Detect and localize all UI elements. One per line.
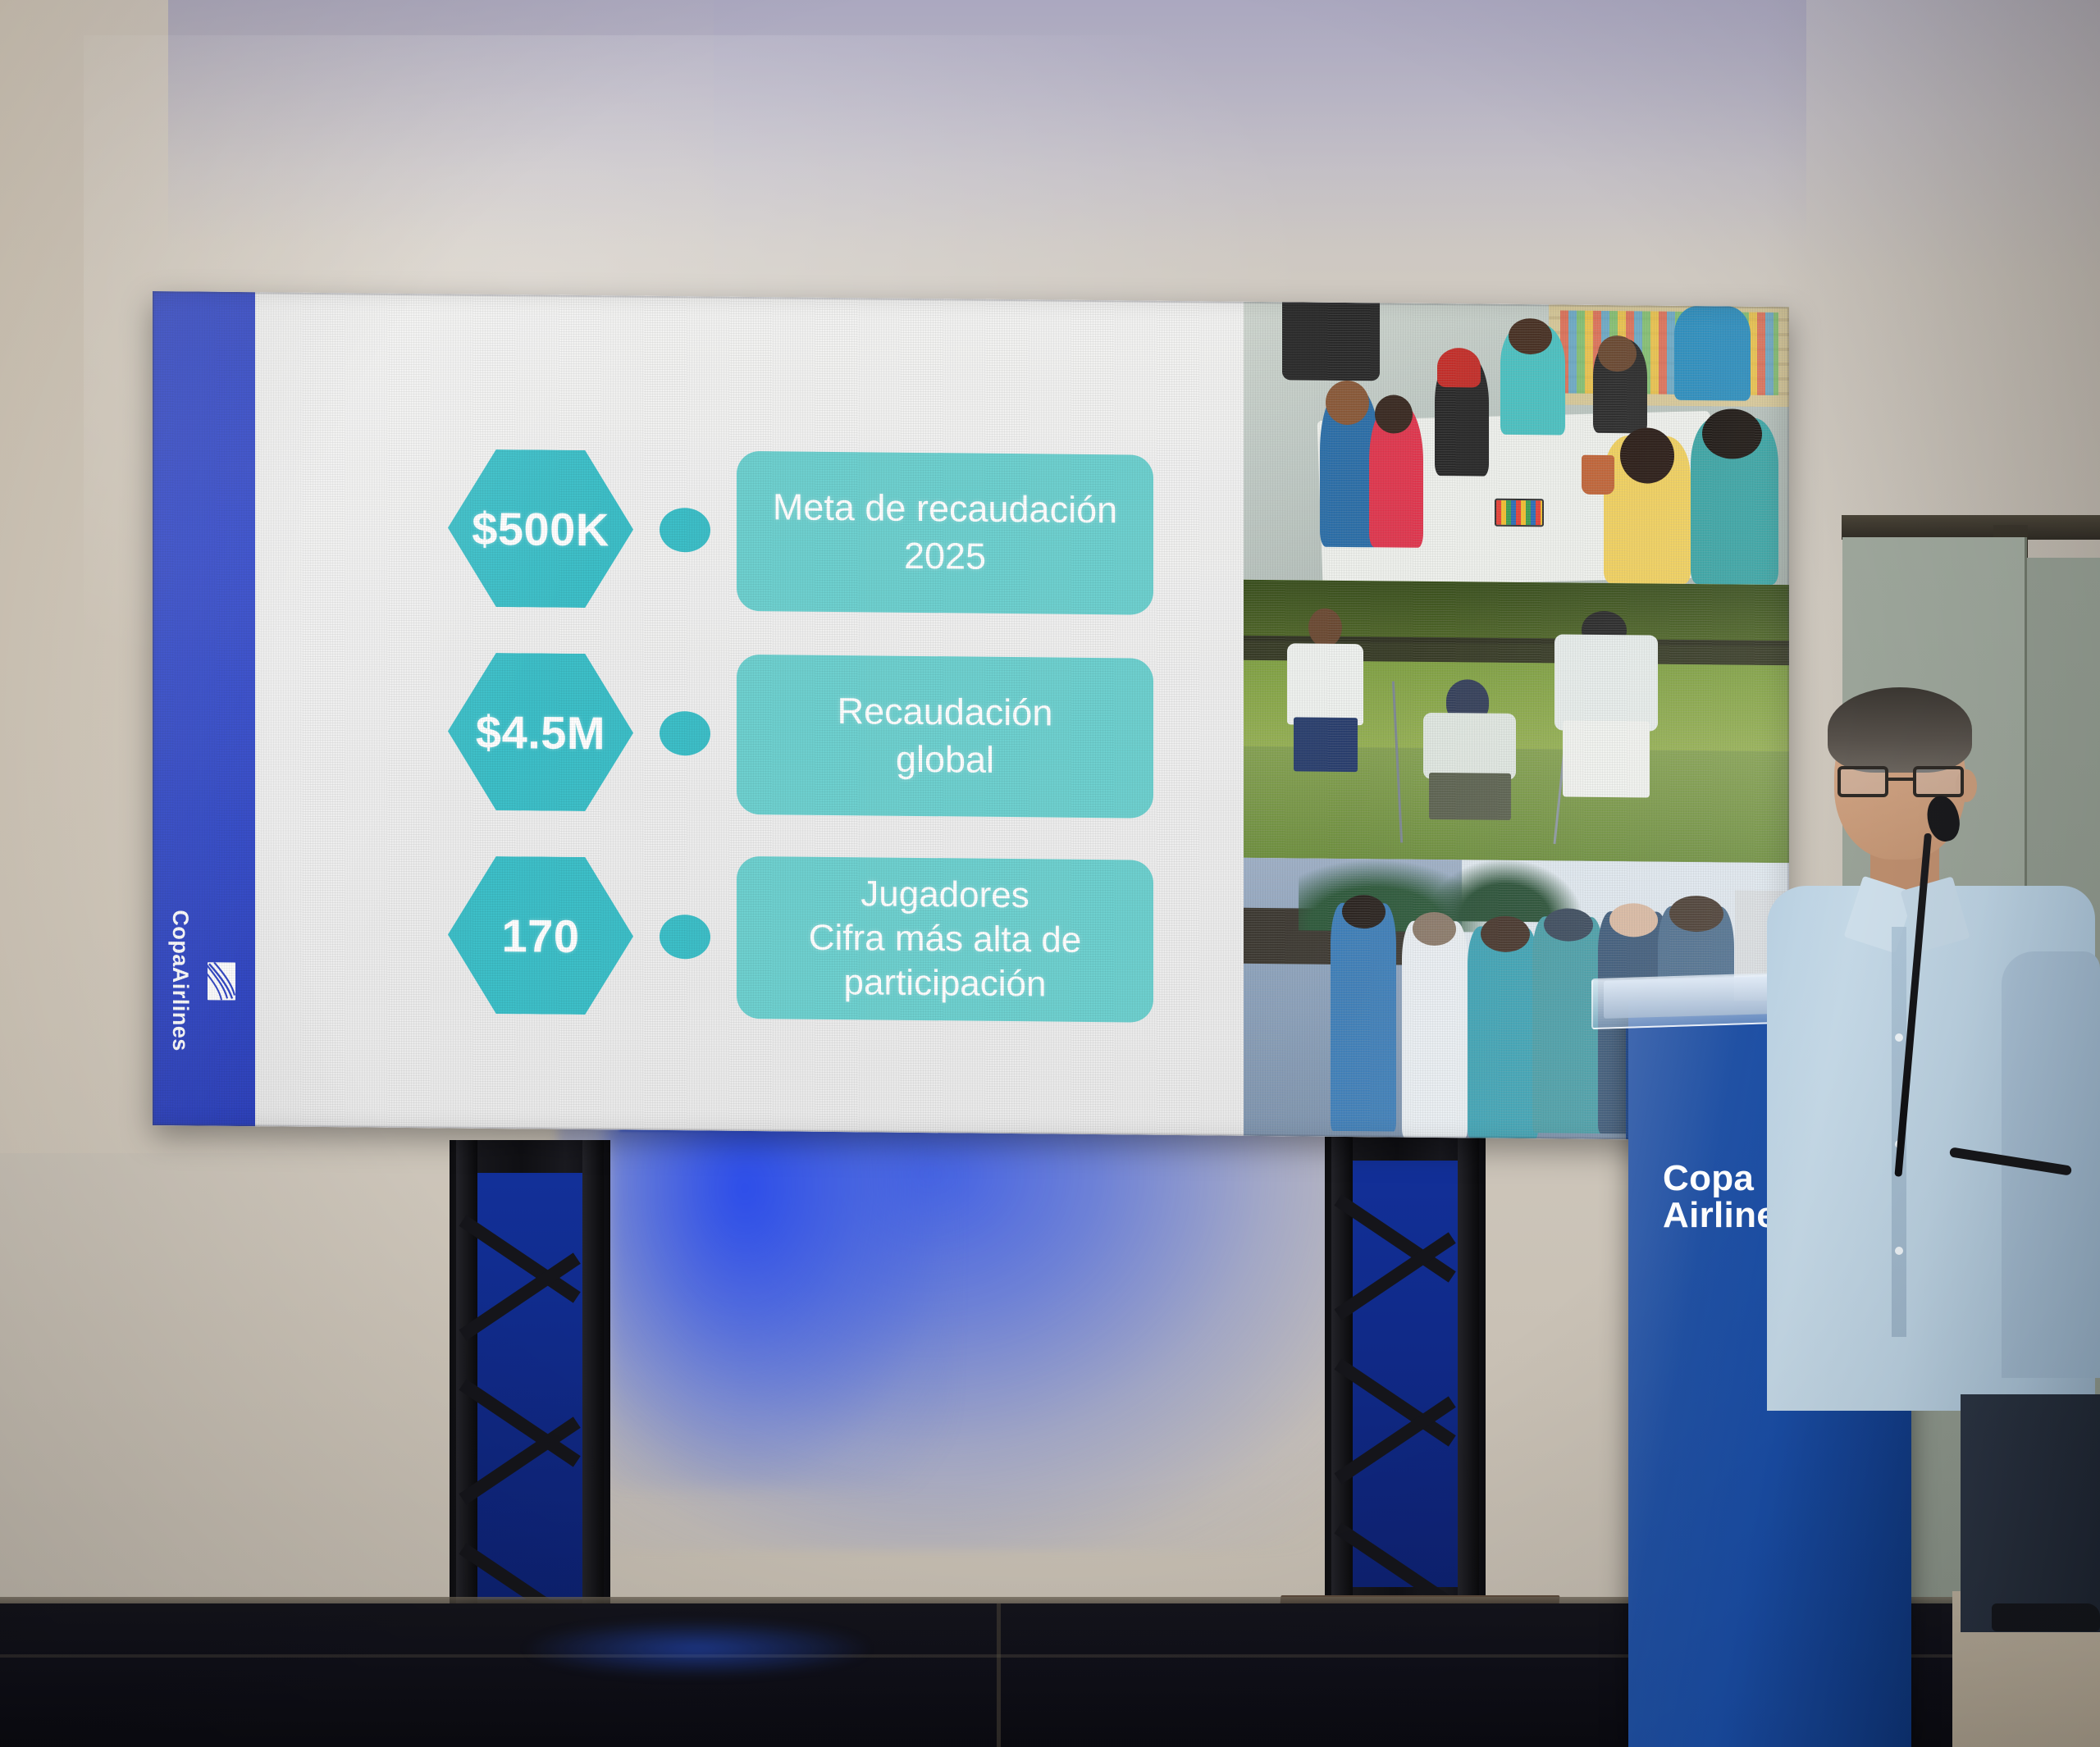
stage-light-spill — [525, 1620, 870, 1677]
stat-label-pill: Meta de recaudación 2025 — [737, 450, 1153, 614]
stat-label-pill: Recaudación global — [737, 654, 1153, 818]
speaker-shoe — [1992, 1603, 2100, 1631]
presentation-scene: $500K Meta de recaudación 2025 $4.5M — [0, 0, 2100, 1747]
speaker-hair — [1828, 687, 1972, 773]
stat-label-line: global — [896, 738, 994, 781]
copa-wave-mark-icon — [208, 962, 235, 1000]
stat-label-pill: Jugadores Cifra más alta de participació… — [737, 856, 1153, 1022]
stat-row: $4.5M Recaudación global — [448, 649, 1153, 819]
led-presentation-screen[interactable]: $500K Meta de recaudación 2025 $4.5M — [153, 291, 1789, 1141]
door-header-beam — [1842, 515, 2100, 540]
speaker-person — [1755, 681, 2100, 1624]
truss-tower-left — [450, 1140, 610, 1632]
stat-value-hexagon: $4.5M — [448, 649, 633, 814]
stage-uplight-core — [607, 1103, 952, 1489]
slide-copa-logo: CopaAirlines — [167, 910, 241, 1052]
stat-label-line: 2025 — [904, 535, 986, 577]
golf-putting-green-photo — [1244, 580, 1789, 863]
slide-canvas: $500K Meta de recaudación 2025 $4.5M — [255, 292, 1789, 1141]
stat-label-line: participación — [843, 962, 1046, 1004]
slide-copa-logo-text: CopaAirlines — [167, 910, 193, 1052]
truss-rail-right — [1458, 1128, 1479, 1620]
stat-value-hexagon: 170 — [448, 852, 633, 1018]
bullet-dot-icon — [660, 508, 710, 553]
stat-label-line: Cifra más alta de — [809, 918, 1082, 960]
stat-row: 170 Jugadores Cifra más alta de particip… — [448, 852, 1153, 1023]
stat-label-line: Recaudación — [838, 690, 1053, 734]
stat-label-line: Jugadores — [861, 874, 1029, 916]
stat-row: $500K Meta de recaudación 2025 — [448, 445, 1153, 616]
slide-stat-list: $500K Meta de recaudación 2025 $4.5M — [448, 445, 1153, 1023]
truss-tower-right — [1325, 1128, 1486, 1620]
speaker-trousers — [1961, 1394, 2100, 1632]
stat-label-line: Meta de recaudación — [773, 486, 1117, 531]
speaker-glasses-icon — [1837, 766, 1964, 799]
stat-value-hexagon: $500K — [448, 445, 633, 611]
bullet-dot-icon — [660, 711, 710, 756]
truss-rail-right — [582, 1140, 604, 1632]
slide-brand-sidebar: CopaAirlines — [153, 291, 255, 1126]
bullet-dot-icon — [660, 915, 710, 960]
children-art-workshop-photo — [1244, 302, 1789, 585]
